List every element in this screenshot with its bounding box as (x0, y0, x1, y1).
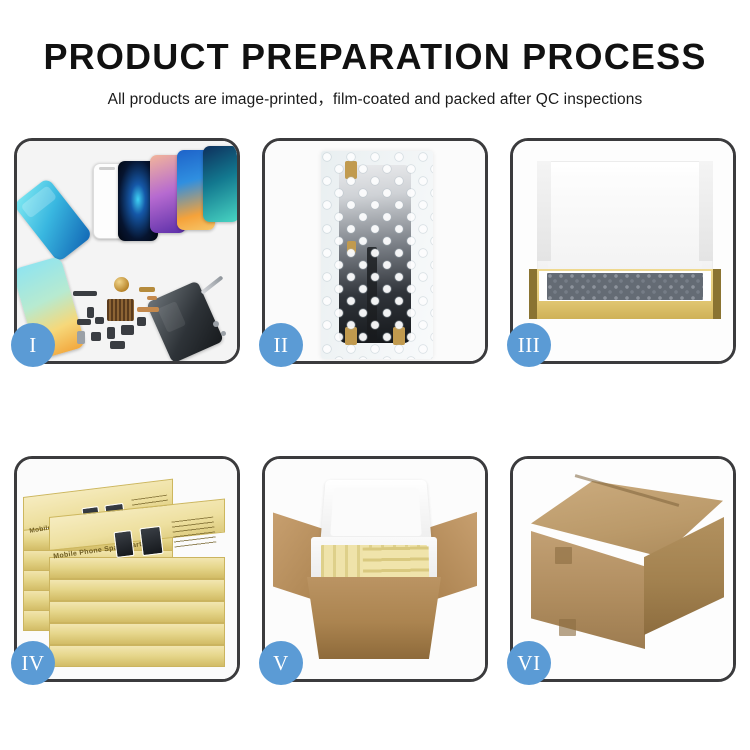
box-artwork-screen (113, 530, 134, 558)
stacked-box (49, 601, 225, 623)
carton-tape-lower (559, 619, 576, 636)
carton-tape-upper (555, 547, 572, 564)
scene-open-foam-box (513, 141, 733, 361)
process-step-panel-1[interactable]: I (14, 138, 240, 364)
spare-part (139, 287, 155, 292)
tweezers-tool (201, 275, 224, 294)
phone-back-teal (17, 177, 93, 262)
white-box-lid (537, 161, 713, 281)
chip-array-part (107, 299, 134, 321)
box-artwork-screen (139, 526, 163, 556)
step-badge-4: IV (11, 641, 55, 685)
panel-image-1 (17, 141, 237, 361)
panel-image-5 (265, 459, 485, 679)
phone-chassis (146, 280, 224, 361)
carton-front-face (531, 531, 645, 649)
step-badge-1: I (11, 323, 55, 367)
spare-part (213, 321, 219, 327)
spare-part (77, 319, 91, 325)
spare-part (110, 341, 125, 349)
step-badge-3: III (507, 323, 551, 367)
process-step-panel-3[interactable]: III (510, 138, 736, 364)
panel-image-4: Mobile Phone Spare Parts Mobile Phone (17, 459, 237, 679)
box-stack-front: Mobile Phone Spare Parts (49, 517, 225, 667)
spare-part (87, 307, 94, 318)
process-step-panel-2[interactable]: II (262, 138, 488, 364)
spare-part (147, 296, 157, 300)
panel-image-3 (513, 141, 733, 361)
process-step-panel-5[interactable]: V (262, 456, 488, 682)
step-badge-2: II (259, 323, 303, 367)
process-step-panel-6[interactable]: VI (510, 456, 736, 682)
stacked-box (49, 557, 225, 579)
spare-part (73, 291, 97, 296)
scene-sealed-carton (513, 459, 733, 679)
spare-part (137, 317, 146, 326)
lid-flap-right (699, 161, 713, 261)
outer-carton (307, 577, 441, 659)
bubble-wrap-bag (321, 151, 433, 359)
spare-part (91, 332, 101, 341)
process-step-panel-4[interactable]: Mobile Phone Spare Parts Mobile Phone (14, 456, 240, 682)
scene-carton-loading (265, 459, 485, 679)
lid-flap-left (537, 161, 551, 261)
vibration-motor-part (114, 277, 129, 292)
stacked-box (49, 579, 225, 601)
step-badge-6: VI (507, 641, 551, 685)
kraft-box-tray (529, 269, 721, 319)
page-subtitle: All products are image-printed，film-coat… (0, 87, 750, 109)
tray-edge-right (713, 269, 721, 319)
tray-edge-left (529, 269, 537, 319)
page-title: PRODUCT PREPARATION PROCESS (0, 38, 750, 76)
bubble-texture (321, 151, 433, 359)
step-badge-5: V (259, 641, 303, 685)
grey-foam-padding (547, 273, 703, 300)
spare-part (221, 331, 226, 336)
spare-part (121, 325, 134, 335)
panel-image-6 (513, 459, 733, 679)
process-step-grid: I II (14, 138, 736, 682)
stacked-box (49, 645, 225, 667)
phone-display-teal (203, 146, 237, 222)
scene-bubble-wrap (265, 141, 485, 361)
scene-parts-layout (17, 141, 237, 361)
spare-part (137, 307, 159, 312)
product-preparation-infographic: PRODUCT PREPARATION PROCESS All products… (0, 0, 750, 750)
header: PRODUCT PREPARATION PROCESS All products… (0, 0, 750, 109)
scene-box-stack: Mobile Phone Spare Parts Mobile Phone (17, 459, 237, 679)
panel-image-2 (265, 141, 485, 361)
styrofoam-lid (320, 480, 432, 546)
box-spec-lines (171, 517, 216, 550)
spare-part (95, 317, 104, 324)
spare-part (107, 327, 115, 339)
stacked-box (49, 623, 225, 645)
spare-part (77, 331, 85, 344)
